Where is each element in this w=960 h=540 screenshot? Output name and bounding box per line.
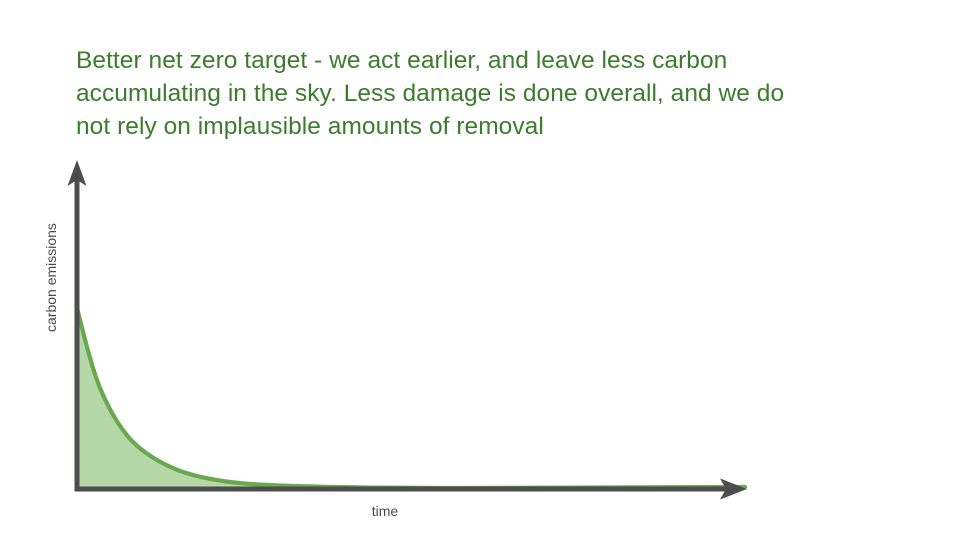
x-axis-label: time <box>335 503 435 519</box>
y-axis-label: carbon emissions <box>43 232 59 332</box>
slide-canvas: Better net zero target - we act earlier,… <box>0 0 960 540</box>
emissions-decay-chart: carbon emissions time <box>0 0 960 540</box>
emissions-curve-line <box>77 308 745 488</box>
emissions-area-fill <box>77 308 745 489</box>
chart-svg <box>0 0 960 540</box>
